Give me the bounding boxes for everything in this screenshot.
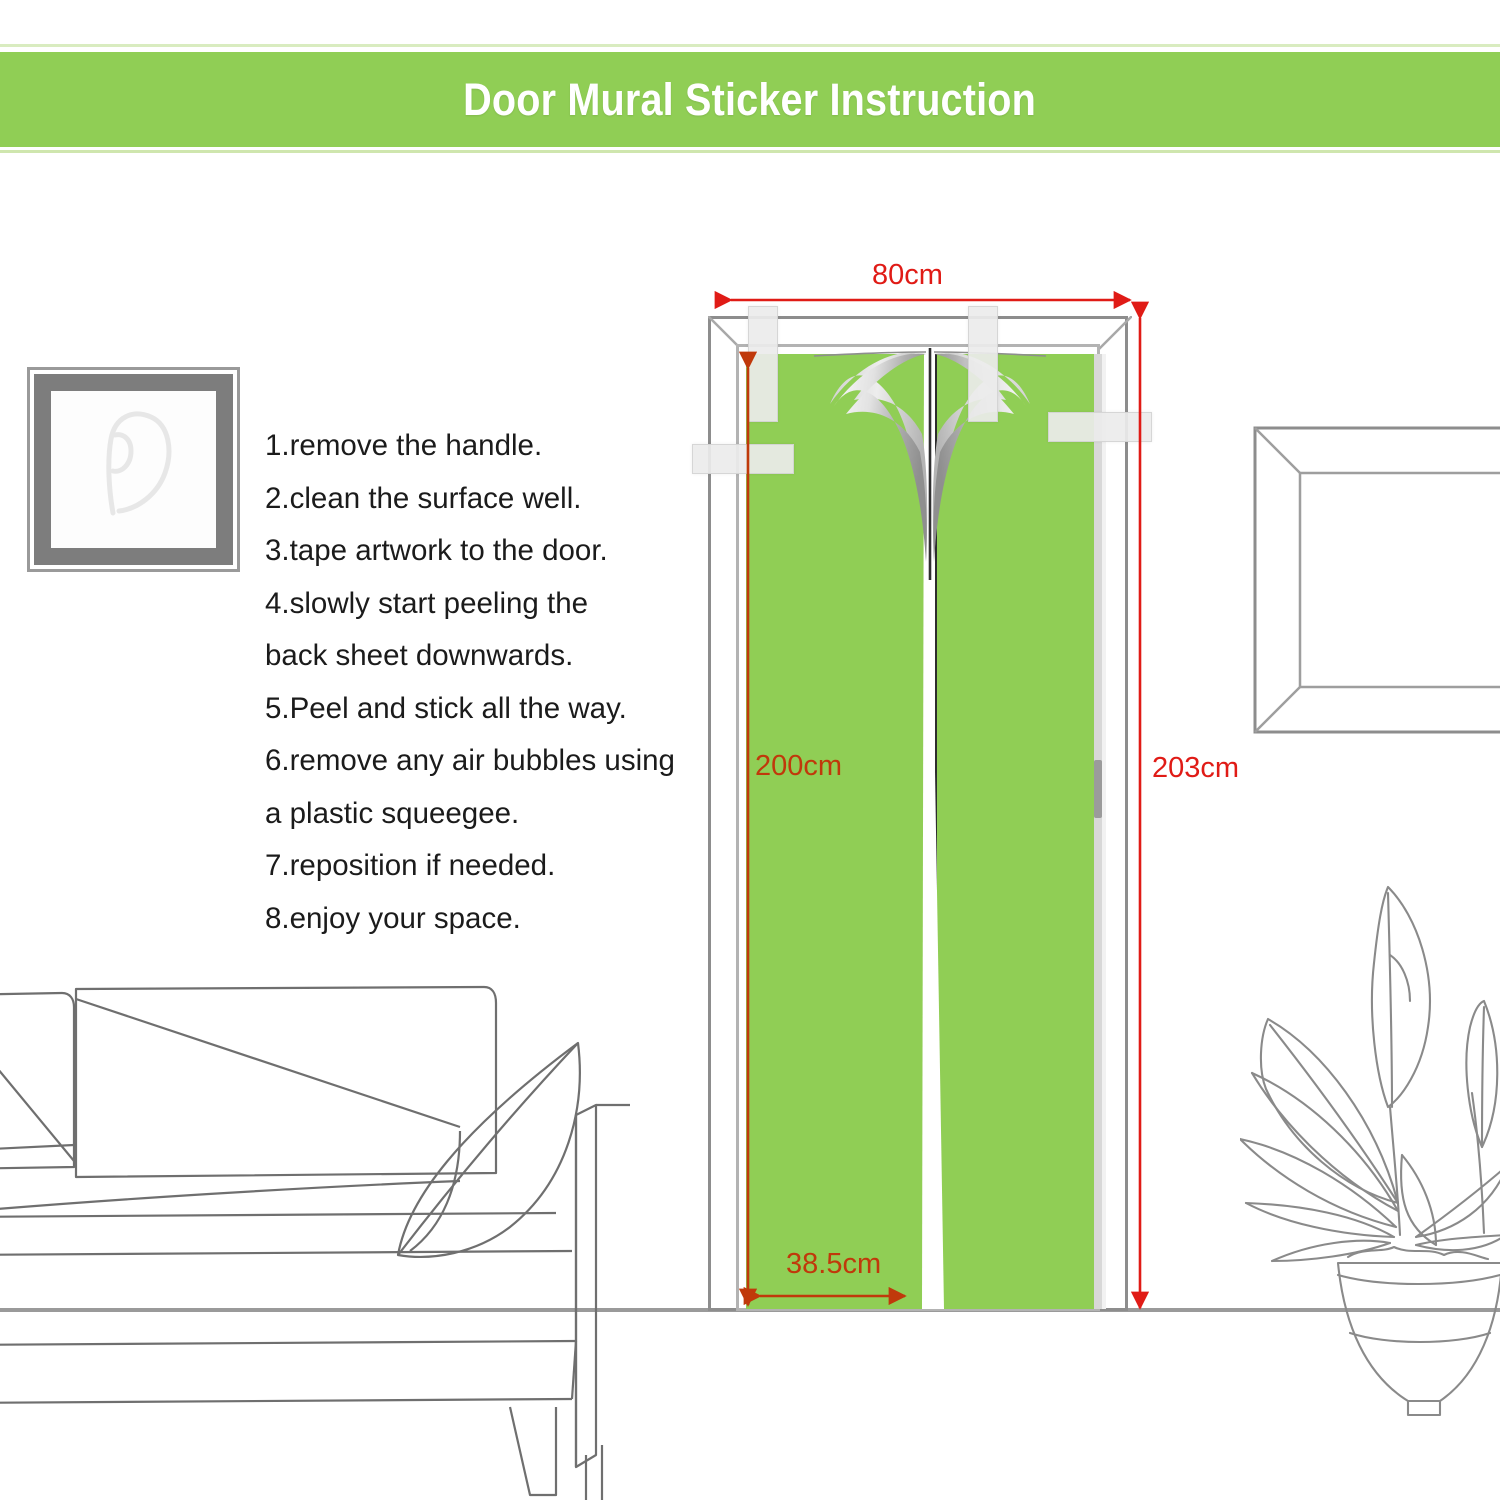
instruction-poster: Door Mural Sticker Instruction 1.remove … xyxy=(0,0,1500,1500)
header-top-rule xyxy=(0,44,1500,47)
instruction-step: 5.Peel and stick all the way. xyxy=(265,683,685,736)
tape-strip-side-left xyxy=(692,444,794,474)
instruction-step: 2.clean the surface well. xyxy=(265,473,685,526)
sofa-illustration xyxy=(0,955,630,1500)
header-banner: Door Mural Sticker Instruction xyxy=(0,52,1500,147)
page-title: Door Mural Sticker Instruction xyxy=(464,74,1037,126)
framed-artwork-scribble xyxy=(61,395,201,535)
door-hinge xyxy=(1094,760,1102,818)
instruction-step: 7.reposition if needed. xyxy=(265,840,685,893)
instruction-step: 1.remove the handle. xyxy=(265,420,685,473)
door-leaf-edge xyxy=(1094,354,1102,1309)
tape-strip-side-right xyxy=(1048,412,1152,442)
tape-strip-top-left xyxy=(748,306,778,422)
instruction-step: back sheet downwards. xyxy=(265,630,685,683)
instruction-step: 4.slowly start peeling the xyxy=(265,578,685,631)
peeling-backing-flaps xyxy=(810,348,1050,598)
instruction-list: 1.remove the handle. 2.clean the surface… xyxy=(265,420,685,945)
header-bottom-rule xyxy=(0,150,1500,153)
instruction-step: 6.remove any air bubbles using xyxy=(265,735,685,788)
dimension-label-width-top: 80cm xyxy=(872,259,943,292)
dimension-label-panel-width: 38.5cm xyxy=(786,1248,881,1281)
left-picture-frame xyxy=(27,367,240,572)
right-picture-frame xyxy=(1252,425,1500,735)
instruction-step: a plastic squeegee. xyxy=(265,788,685,841)
door-illustration xyxy=(690,280,1160,1320)
dimension-label-door-height: 203cm xyxy=(1152,752,1239,785)
tape-strip-top-right xyxy=(968,306,998,422)
door-leaf-edge-highlight xyxy=(1102,354,1106,1309)
dimension-label-sticker-height: 200cm xyxy=(755,750,842,783)
instruction-step: 8.enjoy your space. xyxy=(265,893,685,946)
header: Door Mural Sticker Instruction xyxy=(0,0,1500,170)
potted-plant-illustration xyxy=(1240,855,1500,1455)
instruction-step: 3.tape artwork to the door. xyxy=(265,525,685,578)
